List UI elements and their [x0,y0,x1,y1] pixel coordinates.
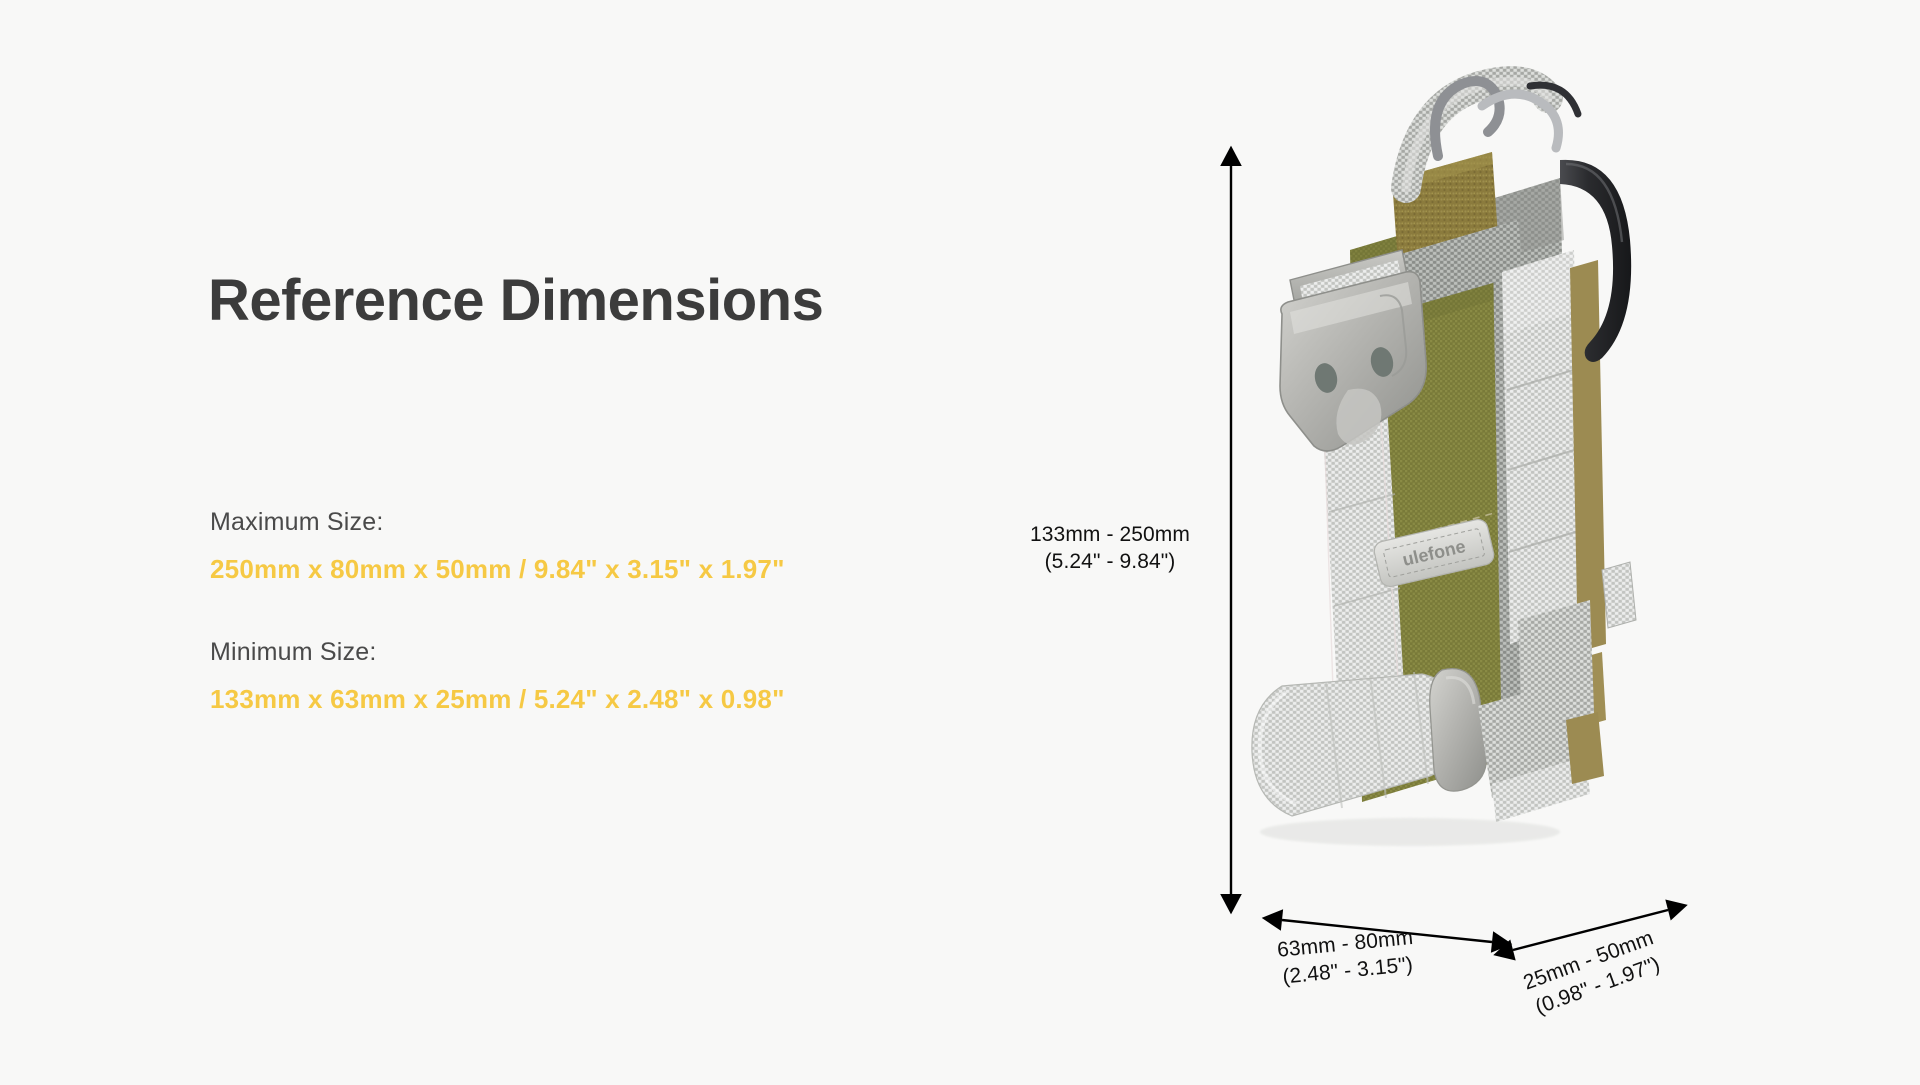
infographic-canvas: Reference Dimensions Maximum Size: 250mm… [0,0,1920,1080]
width-dimension-label: 63mm - 80mm (2.48" - 3.15") [1276,925,1417,992]
side-pull-tab [1602,562,1636,628]
right-webbing-column [1502,250,1582,644]
height-dimension-mm: 133mm - 250mm [1000,522,1220,549]
spec-maximum-size: Maximum Size: 250mm x 80mm x 50mm / 9.84… [210,508,785,585]
height-dimension-inch: (5.24" - 9.84") [1000,549,1220,576]
depth-dimension-inch: (0.98" - 1.97") [1529,951,1666,1023]
spec-minimum-size: Minimum Size: 133mm x 63mm x 25mm / 5.24… [210,638,785,715]
depth-arrow [1513,910,1668,950]
spec-minimum-value: 133mm x 63mm x 25mm / 5.24" x 2.48" x 0.… [210,684,785,715]
spec-maximum-label: Maximum Size: [210,508,785,537]
height-dimension-label: 133mm - 250mm (5.24" - 9.84") [1000,522,1220,576]
spec-minimum-label: Minimum Size: [210,638,785,667]
page-title: Reference Dimensions [208,272,823,330]
width-dimension-mm: 63mm - 80mm [1276,925,1414,965]
product-image-tactical-holster: ulefone [1230,60,1690,910]
depth-dimension-mm: 25mm - 50mm [1520,925,1657,997]
width-dimension-inch: (2.48" - 3.15") [1279,952,1417,992]
width-arrow [1282,920,1492,942]
spec-maximum-value: 250mm x 80mm x 50mm / 9.84" x 3.15" x 1.… [210,554,785,585]
depth-dimension-label: 25mm - 50mm (0.98" - 1.97") [1520,925,1667,1022]
